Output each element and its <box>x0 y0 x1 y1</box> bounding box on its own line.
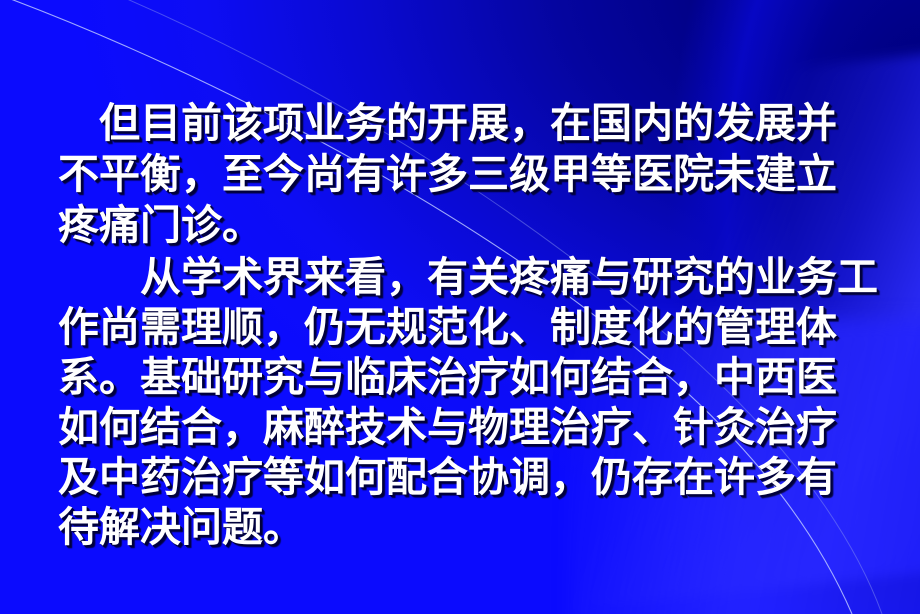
presentation-slide: 但目前该项业务的开展，在国内的发展并 不平衡，至今尚有许多三级甲等医院未建立 疼… <box>0 0 920 614</box>
slide-text-content: 但目前该项业务的开展，在国内的发展并 不平衡，至今尚有许多三级甲等医院未建立 疼… <box>0 0 920 614</box>
paragraph-2-line-1: 从学术界来看，有关疼痛与研究的业务工 <box>58 252 870 302</box>
paragraph-2-line-5: 及中药治疗等如何配合协调，仍存在许多有 <box>58 452 870 502</box>
paragraph-1: 但目前该项业务的开展，在国内的发展并 不平衡，至今尚有许多三级甲等医院未建立 疼… <box>58 98 870 251</box>
paragraph-1-line-3: 疼痛门诊。 <box>58 200 870 251</box>
paragraph-2: 从学术界来看，有关疼痛与研究的业务工 作尚需理顺，仍无规范化、制度化的管理体 系… <box>58 252 870 552</box>
paragraph-1-line-1: 但目前该项业务的开展，在国内的发展并 <box>58 98 870 149</box>
paragraph-1-line-2: 不平衡，至今尚有许多三级甲等医院未建立 <box>58 149 870 200</box>
paragraph-2-line-2: 作尚需理顺，仍无规范化、制度化的管理体 <box>58 302 870 352</box>
paragraph-2-line-3: 系。基础研究与临床治疗如何结合，中西医 <box>58 352 870 402</box>
paragraph-2-line-4: 如何结合，麻醉技术与物理治疗、针灸治疗 <box>58 402 870 452</box>
paragraph-2-line-6: 待解决问题。 <box>58 502 870 552</box>
